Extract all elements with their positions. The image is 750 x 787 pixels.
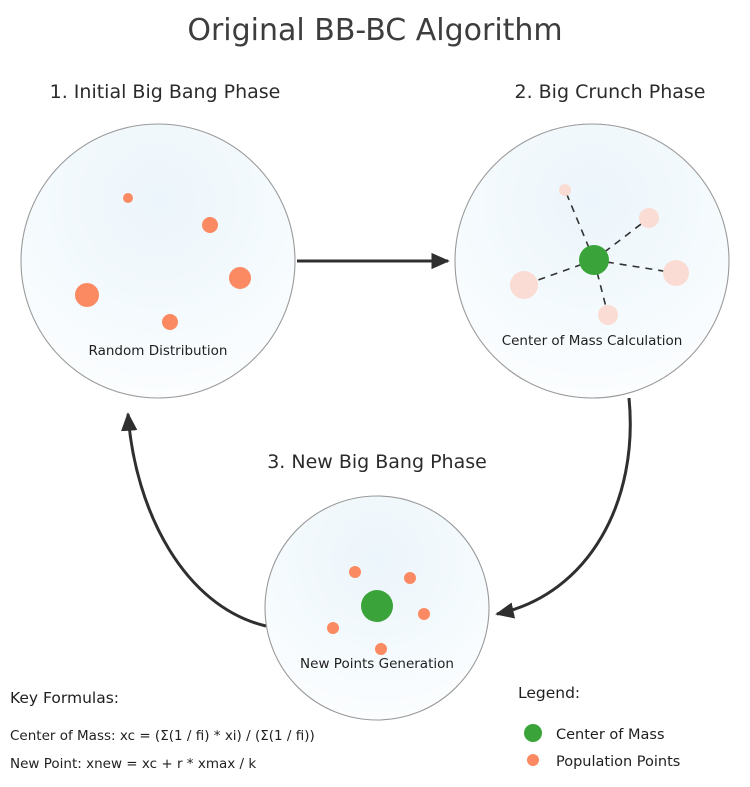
population-point-3 [229,267,251,289]
population-point-5 [162,314,178,330]
population-point-2 [202,217,218,233]
population-point-icon [527,754,539,766]
legend-label-population-points: Population Points [556,754,680,770]
population-point-1 [559,184,571,196]
center-of-mass-point [579,245,609,275]
legend-heading: Legend: [518,684,580,702]
population-point-1 [123,193,133,203]
population-point-4 [510,271,538,299]
formula-center-of-mass: Center of Mass: xc = (Σ(1 / fi) * xi) / … [10,728,315,744]
population-point-2 [404,572,416,584]
center-of-mass-icon [524,724,542,742]
phase-initial-big-bang: 1. Initial Big Bang PhaseRandom Distribu… [21,81,295,398]
legend: Legend: Center of Mass Population Points [518,684,680,770]
population-point-5 [375,643,387,655]
population-point-2 [639,208,659,228]
legend-item-center-of-mass: Center of Mass [524,724,665,743]
population-point-3 [418,608,430,620]
phase-caption-big-crunch: Center of Mass Calculation [502,333,683,349]
formula-new-point: New Point: xnew = xc + r * xmax / k [10,756,256,772]
legend-label-center-of-mass: Center of Mass [556,727,665,743]
page-title: Original BB-BC Algorithm [187,13,562,48]
phase-circles: 1. Initial Big Bang PhaseRandom Distribu… [21,81,729,720]
population-point-3 [663,260,689,286]
phase-caption-new-big-bang: New Points Generation [300,656,454,672]
center-of-mass-point [361,590,393,622]
key-formulas-heading: Key Formulas: [10,689,119,707]
population-point-1 [349,566,361,578]
phase-big-crunch: 2. Big Crunch PhaseCenter of Mass Calcul… [455,81,729,398]
population-point-4 [75,283,99,307]
phase-caption-initial-big-bang: Random Distribution [89,343,228,359]
bb-bc-algorithm-diagram: Original BB-BC Algorithm 1. Initial Big … [0,0,750,787]
arrow-phase2-to-phase3 [497,398,630,614]
population-point-5 [598,305,618,325]
diagram-canvas: Original BB-BC Algorithm 1. Initial Big … [0,0,750,787]
key-formulas-block: Key Formulas: Center of Mass: xc = (Σ(1 … [10,689,315,772]
population-point-4 [327,622,339,634]
phase-heading-initial-big-bang: 1. Initial Big Bang Phase [50,81,281,103]
legend-item-population-points: Population Points [527,754,680,770]
phase-heading-new-big-bang: 3. New Big Bang Phase [267,451,487,473]
phase-heading-big-crunch: 2. Big Crunch Phase [514,81,705,103]
phase-new-big-bang: 3. New Big Bang PhaseNew Points Generati… [265,451,489,720]
arrow-phase3-to-phase1 [128,414,266,626]
